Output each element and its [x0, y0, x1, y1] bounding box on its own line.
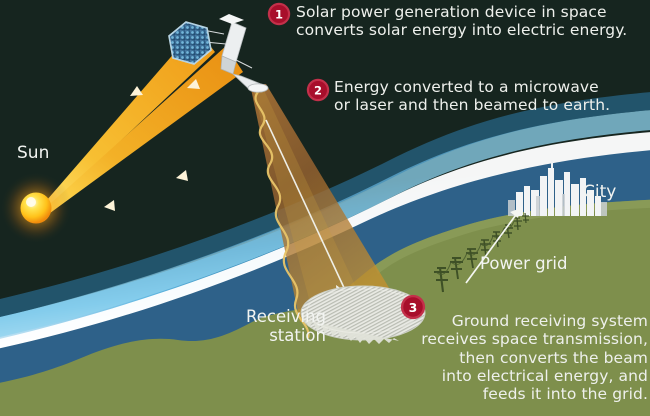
receiving-station-label: Receiving station [222, 307, 326, 345]
power-grid-label: Power grid [480, 254, 567, 273]
step-1-caption: Solar power generation device in space c… [296, 3, 648, 40]
step-badge-1: 1 [267, 2, 291, 26]
step-badge-2: 2 [306, 78, 330, 102]
step-2-caption: Energy converted to a microwave or laser… [334, 78, 644, 115]
step-badge-1-number: 1 [275, 7, 283, 21]
space-solar-power-diagram: 1 2 3 Solar power generation device in s… [0, 0, 650, 416]
step-3-caption: Ground receiving system receives space t… [398, 312, 648, 403]
sun-label: Sun [17, 143, 49, 163]
sun [0, 172, 72, 244]
step-badge-2-number: 2 [314, 83, 322, 97]
city-label: City [583, 182, 616, 202]
